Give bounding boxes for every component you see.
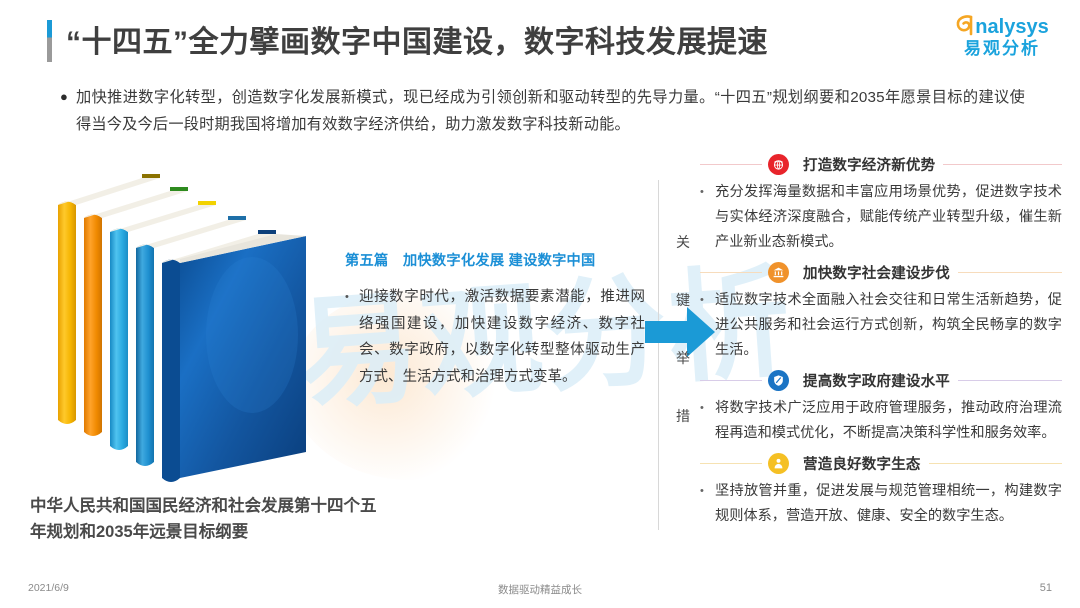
vertical-label-char-3: 措 bbox=[672, 387, 694, 445]
section-body: • 适应数字技术全面融入社会交往和日常生活新趋势，促进公共服务和社会运行方式创新… bbox=[700, 288, 1062, 363]
lead-paragraph: ● 加快推进数字化转型，创造数字化发展新模式，现已经成为引领创新和驱动转型的先导… bbox=[60, 84, 1025, 138]
digital-economy-icon bbox=[768, 154, 789, 175]
analysys-logo: nalysys 易观分析 bbox=[942, 14, 1062, 66]
shield-glyph bbox=[772, 374, 785, 387]
section-body-text: 适应数字技术全面融入社会交往和日常生活新趋势，促进公共服务和社会运行方式创新，构… bbox=[715, 288, 1062, 363]
books-svg bbox=[40, 160, 330, 490]
section-bullet-icon: • bbox=[700, 396, 715, 446]
section-header: 营造良好数字生态 bbox=[700, 449, 1062, 477]
person-glyph bbox=[772, 457, 785, 470]
section-bullet-icon: • bbox=[700, 479, 715, 529]
middle-body-text: 迎接数字时代，激活数据要素潜能，推进网络强国建设，加快建设数字经济、数字社会、数… bbox=[359, 284, 645, 390]
section-rule-left bbox=[700, 380, 762, 381]
section-body: • 将数字技术广泛应用于政府管理服务，推动政府治理流程再造和模式优化，不断提高决… bbox=[700, 396, 1062, 446]
globe-hat-glyph bbox=[772, 158, 785, 171]
vertical-label-char-2: 举 bbox=[672, 329, 694, 387]
logo-wordmark-row: nalysys bbox=[942, 14, 1062, 38]
section-header: 加快数字社会建设步伐 bbox=[700, 258, 1062, 286]
panel-section-digital-economy: 打造数字经济新优势 • 充分发挥海量数据和丰富应用场景优势，促进数字技术与实体经… bbox=[700, 150, 1062, 255]
footer-page-number: 51 bbox=[1040, 582, 1052, 594]
slide-footer: 2021/6/9 数据驱动精益成长 51 bbox=[0, 574, 1080, 608]
section-bullet-icon: • bbox=[700, 288, 715, 363]
section-header: 打造数字经济新优势 bbox=[700, 150, 1062, 178]
middle-body: • 迎接数字时代，激活数据要素潜能，推进网络强国建设，加快建设数字经济、数字社会… bbox=[345, 284, 645, 390]
title-accent-bar bbox=[47, 20, 52, 62]
panel-section-digital-ecology: 营造良好数字生态 • 坚持放管并重，促进发展与规范管理相统一，构建数字规则体系，… bbox=[700, 449, 1062, 529]
vertical-label-char-1: 键 bbox=[672, 271, 694, 329]
section-rule-right bbox=[958, 272, 1062, 273]
lead-bullet-icon: ● bbox=[60, 84, 76, 138]
slide-header: “十四五”全力擘画数字中国建设，数字科技发展提速 nalysys 易观分析 bbox=[0, 0, 1080, 78]
section-body-text: 将数字技术广泛应用于政府管理服务，推动政府治理流程再造和模式优化，不断提高决策科… bbox=[715, 396, 1062, 446]
vertical-label-char-0: 关 bbox=[672, 213, 694, 271]
section-rule-right bbox=[943, 164, 1062, 165]
books-caption-line2: 年规划和2035年远景目标纲要 bbox=[30, 519, 430, 545]
section-rule-left bbox=[700, 164, 762, 165]
section-rule-right bbox=[929, 463, 1062, 464]
panel-section-digital-society: 加快数字社会建设步伐 • 适应数字技术全面融入社会交往和日常生活新趋势，促进公共… bbox=[700, 258, 1062, 363]
logo-a-mark-icon bbox=[955, 14, 975, 36]
section-rule-left bbox=[700, 463, 762, 464]
section-rule-left bbox=[700, 272, 762, 273]
section-body-text: 充分发挥海量数据和丰富应用场景优势，促进数字技术与实体经济深度融合，赋能传统产业… bbox=[715, 180, 1062, 255]
middle-bullet-icon: • bbox=[345, 284, 359, 390]
logo-chinese-text: 易观分析 bbox=[942, 39, 1062, 59]
section-body-text: 坚持放管并重，促进发展与规范管理相统一，构建数字规则体系，营造开放、健康、安全的… bbox=[715, 479, 1062, 529]
footer-tagline: 数据驱动精益成长 bbox=[0, 582, 1080, 597]
section-title: 提高数字政府建设水平 bbox=[803, 370, 950, 391]
page-title: “十四五”全力擘画数字中国建设，数字科技发展提速 bbox=[66, 17, 768, 61]
panel-section-digital-government: 提高数字政府建设水平 • 将数字技术广泛应用于政府管理服务，推动政府治理流程再造… bbox=[700, 366, 1062, 446]
section-bullet-icon: • bbox=[700, 180, 715, 255]
logo-wordmark-text: nalysys bbox=[975, 16, 1048, 38]
section-body: • 充分发挥海量数据和丰富应用场景优势，促进数字技术与实体经济深度融合，赋能传统… bbox=[700, 180, 1062, 255]
middle-heading: 第五篇 加快数字化发展 建设数字中国 bbox=[345, 250, 645, 270]
bank-building-icon bbox=[768, 262, 789, 283]
section-title: 打造数字经济新优势 bbox=[803, 154, 935, 175]
section-title: 加快数字社会建设步伐 bbox=[803, 262, 950, 283]
person-icon bbox=[768, 453, 789, 474]
lead-paragraph-text: 加快推进数字化转型，创造数字化发展新模式，现已经成为引领创新和驱动转型的先导力量… bbox=[76, 84, 1025, 138]
shield-icon bbox=[768, 370, 789, 391]
section-title: 营造良好数字生态 bbox=[803, 453, 921, 474]
stack-of-books-illustration bbox=[40, 160, 330, 490]
key-measures-panel: 打造数字经济新优势 • 充分发挥海量数据和丰富应用场景优势，促进数字技术与实体经… bbox=[700, 150, 1062, 532]
section-body: • 坚持放管并重，促进发展与规范管理相统一，构建数字规则体系，营造开放、健康、安… bbox=[700, 479, 1062, 529]
section-header: 提高数字政府建设水平 bbox=[700, 366, 1062, 394]
books-caption-line1: 中华人民共和国国民经济和社会发展第十四个五 bbox=[30, 493, 430, 519]
middle-column: 第五篇 加快数字化发展 建设数字中国 • 迎接数字时代，激活数据要素潜能，推进网… bbox=[345, 250, 645, 390]
bank-glyph bbox=[772, 266, 785, 279]
books-caption: 中华人民共和国国民经济和社会发展第十四个五 年规划和2035年远景目标纲要 bbox=[30, 493, 430, 545]
vertical-label-key-measures: 关 键 举 措 bbox=[672, 213, 694, 445]
section-rule-right bbox=[958, 380, 1062, 381]
